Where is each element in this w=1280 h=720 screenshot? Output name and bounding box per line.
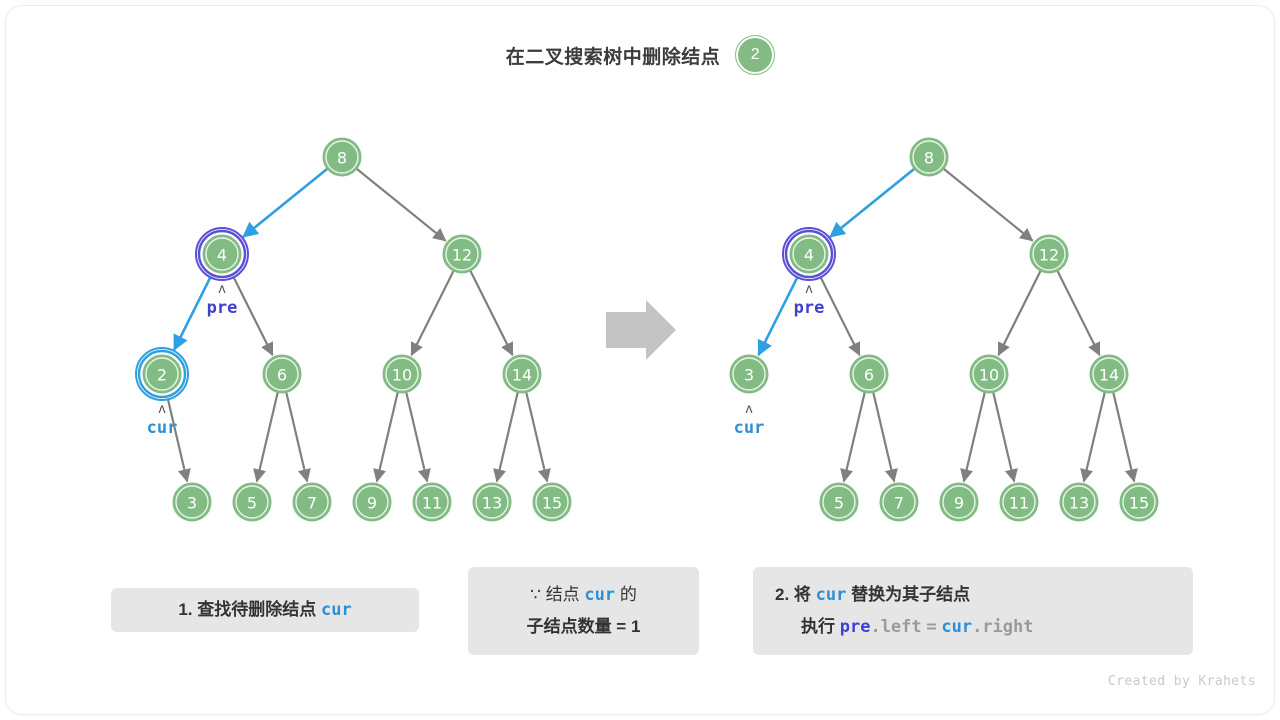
tree-node-15: 15 [1120,483,1158,521]
tree-edge [1084,393,1105,482]
condition-line-1: ∵ 结点 cur 的 [468,579,699,611]
tree-node-label: 14 [512,366,532,385]
tree-node-8: 8 [323,138,361,176]
tree-node-15: 15 [533,483,571,521]
tree-node-5: 5 [233,483,271,521]
tree-node-12: 12 [443,235,481,273]
tree-node-label: 6 [864,366,874,385]
tree-node-label: 3 [187,494,197,513]
step-arrow-icon [606,300,676,360]
tree-node-12: 12 [1030,235,1068,273]
tree-edge [526,393,547,482]
footer-credit: Created by Krahets [1108,674,1256,689]
tree-node-label: 7 [894,494,904,513]
tree-node-5: 5 [820,483,858,521]
tree-edge [1113,393,1134,482]
tree-node-label: 11 [422,494,442,513]
tree-edge [944,169,1033,241]
tree-edge [758,276,797,355]
tree-edge [820,276,859,355]
caption-2-line1-pre: 将 [794,585,811,604]
tree-node-label: 13 [1069,494,1089,513]
tree-edge [411,271,453,355]
because-symbol: ∵ [530,585,541,604]
tree-edge [168,398,188,481]
caption-2-var-cur: cur [816,585,847,605]
caption-2-field-right: .right [972,617,1033,637]
caption-2-line1-post: 替换为其子结点 [851,585,970,604]
tree-node-8: 8 [910,138,948,176]
caption-1-number: 1. [178,600,192,619]
tree-node-4: 4 [196,228,248,280]
tree-edge [830,169,914,237]
tree-edge [174,276,211,350]
tree-node-label: 9 [367,494,377,513]
tree-edge [964,393,985,482]
pointer-caret-icon: ʌ [805,282,813,297]
pointer-label-cur: ʌcur [147,402,178,438]
tree-node-label: 3 [744,366,754,385]
tree-node-11: 11 [1000,483,1038,521]
tree-edge [377,393,398,482]
caption-2-var-pre: pre [840,617,871,637]
tree-node-label: 4 [804,246,814,265]
tree-node-4: 4 [783,228,835,280]
pointer-text: pre [207,298,238,318]
tree-node-6: 6 [263,355,301,393]
tree-node-9: 9 [353,483,391,521]
diagram-page: 在二叉搜索树中删除结点2 841226101435791113158412361… [0,0,1280,720]
tree-node-label: 7 [307,494,317,513]
tree-edge [471,271,513,355]
tree-node-11: 11 [413,483,451,521]
tree-node-label: 5 [247,494,257,513]
caption-step-1: 1. 查找待删除结点 cur [111,588,419,632]
pointer-caret-icon: ʌ [745,402,753,417]
tree-node-label: 12 [1039,246,1059,265]
caption-2-line-1: 2. 将 cur 替换为其子结点 [775,579,1193,611]
caption-2-line-2: 执行 pre.left = cur.right [775,611,1193,643]
tree-edge [357,169,446,241]
pointer-text: cur [734,418,765,438]
pointer-label-cur: ʌcur [734,402,765,438]
tree-edge [993,393,1014,482]
tree-edge [873,393,894,482]
caption-2-equals: = [926,617,936,637]
tree-node-label: 10 [979,366,999,385]
tree-edge [1058,271,1100,355]
tree-edge [257,393,278,482]
tree-node-label: 4 [217,246,227,265]
caption-condition: ∵ 结点 cur 的 子结点数量 = 1 [468,567,699,655]
tree-node-label: 10 [392,366,412,385]
pointer-text: pre [794,298,825,318]
caption-2-number: 2. [775,585,789,604]
tree-node-13: 13 [473,483,511,521]
caption-step-2: 2. 将 cur 替换为其子结点 执行 pre.left = cur.right [753,567,1193,655]
tree-node-label: 5 [834,494,844,513]
tree-node-7: 7 [880,483,918,521]
tree-node-label: 12 [452,246,472,265]
caption-1-var-cur: cur [321,600,352,620]
tree-node-10: 10 [970,355,1008,393]
tree-edge [844,393,865,482]
tree-node-label: 9 [954,494,964,513]
pointer-label-pre: ʌpre [207,282,238,318]
tree-node-9: 9 [940,483,978,521]
tree-edge [998,271,1040,355]
pointer-label-pre: ʌpre [794,282,825,318]
tree-node-14: 14 [503,355,541,393]
caption-1-text: 查找待删除结点 [197,600,316,619]
tree-node-label: 11 [1009,494,1029,513]
tree-node-3: 3 [730,355,768,393]
tree-node-10: 10 [383,355,421,393]
condition-line1-pre: 结点 [546,585,580,604]
tree-node-label: 8 [337,149,347,168]
tree-edge [286,393,307,482]
tree-edge [243,169,327,237]
tree-node-3: 3 [173,483,211,521]
tree-edge [233,276,272,355]
tree-edge [406,393,427,482]
tree-node-13: 13 [1060,483,1098,521]
tree-edge [497,393,518,482]
tree-node-2: 2 [136,348,188,400]
pointer-caret-icon: ʌ [218,282,226,297]
caption-2-field-left: .left [870,617,921,637]
tree-node-6: 6 [850,355,888,393]
tree-node-label: 13 [482,494,502,513]
condition-line-2: 子结点数量 = 1 [468,611,699,643]
tree-node-7: 7 [293,483,331,521]
condition-line1-post: 的 [620,585,637,604]
tree-node-label: 15 [1129,494,1149,513]
caption-2-line2-pre: 执行 [801,617,835,636]
pointer-text: cur [147,418,178,438]
tree-node-label: 6 [277,366,287,385]
pointer-caret-icon: ʌ [158,402,166,417]
condition-var-cur: cur [584,585,615,605]
tree-node-label: 2 [157,366,167,385]
tree-node-label: 15 [542,494,562,513]
caption-2-var-cur2: cur [941,617,972,637]
tree-node-14: 14 [1090,355,1128,393]
tree-node-label: 14 [1099,366,1119,385]
tree-node-label: 8 [924,149,934,168]
